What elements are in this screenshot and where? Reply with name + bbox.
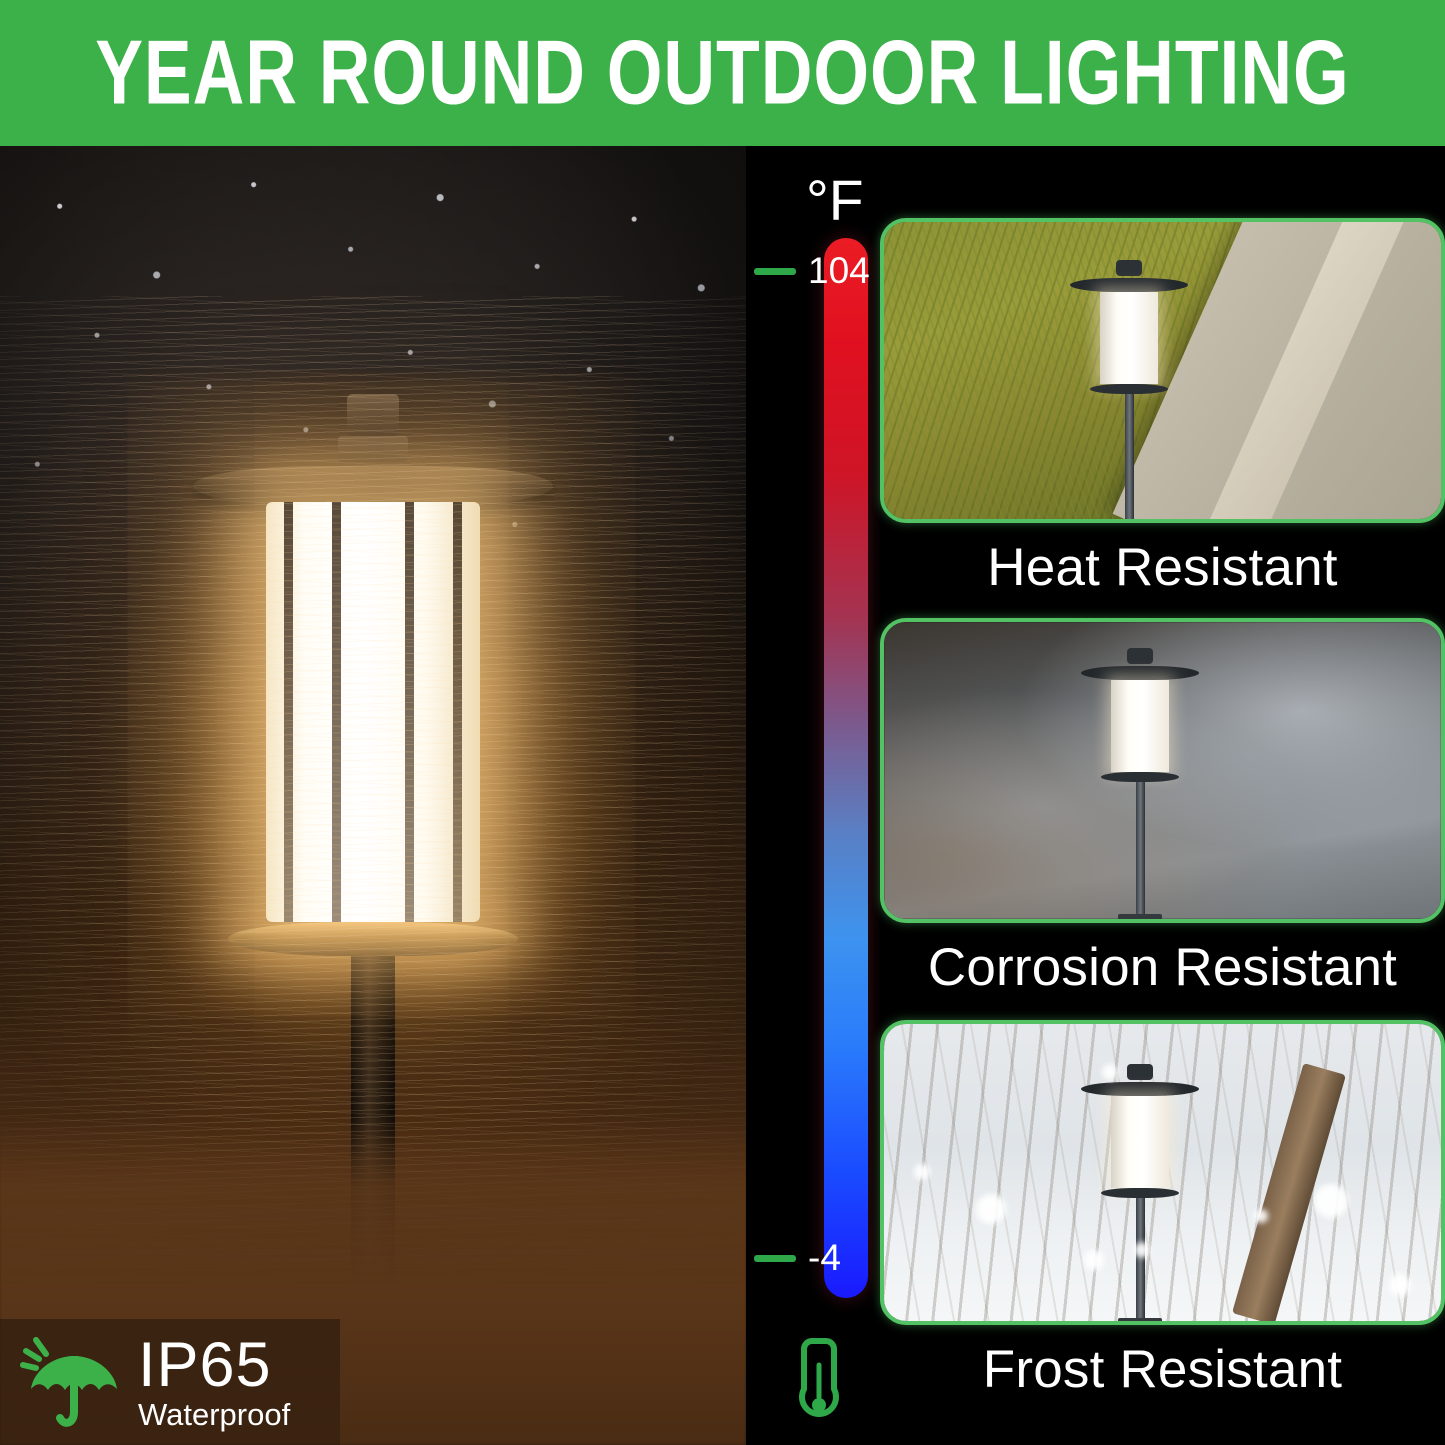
snowflake — [1314, 1184, 1348, 1218]
feature-card-corrosion-resistant[interactable]: Corrosion Resistant — [880, 618, 1445, 998]
lamp-shade-cap — [1081, 666, 1199, 680]
product-infographic: YEAR ROUND OUTDOOR LIGHTING — [0, 0, 1445, 1445]
hot-temperature-tick: 104 — [754, 250, 870, 292]
ip-badge-text: IP65 Waterproof — [138, 1334, 290, 1430]
lamp-base-ring — [1101, 1188, 1179, 1198]
temperature-gradient-bar — [824, 238, 868, 1298]
lamp-base-ring — [1101, 772, 1179, 782]
umbrella-icon — [20, 1334, 124, 1430]
corrosion-resistant-photo — [880, 618, 1445, 923]
lamp-finial — [1127, 1064, 1153, 1080]
feature-card-frost-resistant[interactable]: Frost Resistant — [880, 1020, 1445, 1400]
lamp-shade-cap — [1081, 1082, 1199, 1096]
feature-card-label: Frost Resistant — [880, 1339, 1445, 1400]
lamp-ground-stake — [1118, 1318, 1162, 1325]
tick-dash-icon — [754, 268, 796, 275]
pathway-light-fixture — [1070, 260, 1188, 523]
frost-resistant-photo — [880, 1020, 1445, 1325]
snowflake — [1389, 1274, 1411, 1296]
snowflake — [1134, 1242, 1150, 1258]
lamp-finial — [1116, 260, 1142, 276]
ip65-waterproof-badge: IP65 Waterproof — [0, 1319, 340, 1445]
lamp-pole — [1125, 394, 1134, 523]
cold-temperature-value: -4 — [808, 1237, 841, 1279]
cold-temperature-tick: -4 — [754, 1237, 841, 1279]
thermometer-icon — [788, 1331, 850, 1431]
tick-dash-icon — [754, 1255, 796, 1262]
ip-rating-subtitle: Waterproof — [138, 1399, 290, 1430]
header-banner: YEAR ROUND OUTDOOR LIGHTING — [0, 0, 1445, 146]
snowflake — [1084, 1250, 1104, 1270]
feature-card-list: Heat Resistant Corrosion Resistant — [880, 146, 1445, 1445]
snowflake — [1254, 1209, 1268, 1223]
snowflake — [914, 1164, 930, 1180]
pathway-light-fixture — [1081, 648, 1199, 923]
hot-temperature-value: 104 — [808, 250, 870, 292]
snowflake — [1102, 1064, 1118, 1080]
lamp-diffuser — [1111, 680, 1169, 772]
temperature-scale: °F 104 -4 — [746, 146, 880, 1445]
lamp-finial — [1127, 648, 1153, 664]
lamp-diffuser — [1100, 292, 1158, 384]
lamp-diffuser — [1111, 1096, 1169, 1188]
hero-photo: IP65 Waterproof — [0, 146, 746, 1445]
lamp-ground-stake — [1118, 914, 1162, 923]
ip-rating-code: IP65 — [138, 1334, 290, 1397]
lamp-base-ring — [1090, 384, 1168, 394]
heat-resistant-photo — [880, 218, 1445, 523]
feature-card-label: Corrosion Resistant — [880, 937, 1445, 998]
pathway-light-fixture — [1081, 1064, 1199, 1325]
page-title: YEAR ROUND OUTDOOR LIGHTING — [95, 20, 1349, 125]
snowflake — [976, 1194, 1006, 1224]
feature-card-label: Heat Resistant — [880, 537, 1445, 598]
feature-card-heat-resistant[interactable]: Heat Resistant — [880, 218, 1445, 598]
lamp-pole — [1136, 1198, 1145, 1318]
temperature-unit-label: °F — [806, 168, 864, 234]
lamp-pole — [1136, 782, 1145, 914]
lamp-shade-cap — [1070, 278, 1188, 292]
